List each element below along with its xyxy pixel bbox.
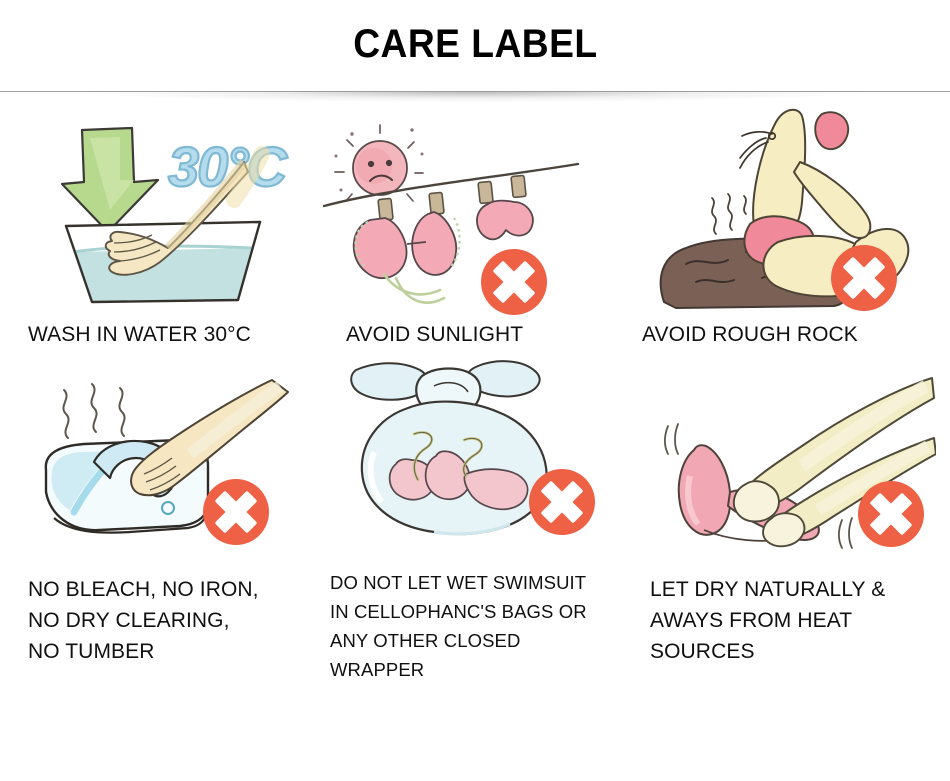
prohibition-icon xyxy=(831,245,897,311)
avoid-rough-rock-svg xyxy=(650,106,940,316)
heat-waves-icon xyxy=(63,384,124,438)
prohibition-icon xyxy=(203,479,269,545)
panel-wash-in-water: 30°C xyxy=(0,98,316,350)
plastic-bag-icon xyxy=(351,361,546,534)
panel-avoid-rough-rock: AVOID ROUGH ROCK xyxy=(632,98,948,350)
panel-avoid-sunlight: AVOID SUNLIGHT xyxy=(316,98,632,350)
illustration-avoid-sunlight xyxy=(316,98,632,313)
wash-in-water-svg: 30°C xyxy=(48,114,298,314)
no-wet-swimsuit-svg xyxy=(338,356,613,556)
caption-let-dry-naturally: LET DRY NATURALLY & AWAYS FROM HEAT SOUR… xyxy=(632,568,948,667)
illustration-avoid-rough-rock xyxy=(632,98,948,313)
prohibition-icon xyxy=(858,481,924,547)
panel-no-wet-swimsuit-in-bag: DO NOT LET WET SWIMSUIT IN CELLOPHANC'S … xyxy=(316,350,632,684)
water-basin-icon xyxy=(66,222,260,302)
page-header: CARE LABEL xyxy=(0,0,950,92)
illustration-wash-in-water: 30°C xyxy=(0,98,316,313)
illustration-let-dry-naturally xyxy=(632,350,948,568)
no-iron-svg xyxy=(40,362,290,562)
caption-wash-in-water: WASH IN WATER 30°C xyxy=(0,313,316,350)
hand-icon xyxy=(131,380,288,495)
illustration-no-iron xyxy=(0,350,316,568)
friction-marks-icon xyxy=(712,194,746,234)
care-row-top: 30°C xyxy=(0,98,950,350)
prohibition-icon xyxy=(481,249,547,315)
care-instruction-grid: 30°C xyxy=(0,92,950,684)
avoid-sunlight-svg xyxy=(322,116,622,321)
panel-no-bleach-no-iron: NO BLEACH, NO IRON, NO DRY CLEARING, NO … xyxy=(0,350,316,684)
panel-let-dry-naturally: LET DRY NATURALLY & AWAYS FROM HEAT SOUR… xyxy=(632,350,948,684)
caption-no-wet-swimsuit-in-bag: DO NOT LET WET SWIMSUIT IN CELLOPHANC'S … xyxy=(316,568,632,684)
caption-avoid-rough-rock: AVOID ROUGH ROCK xyxy=(632,313,948,350)
page-title: CARE LABEL xyxy=(353,24,597,64)
illustration-no-wet-swimsuit-in-bag xyxy=(316,350,632,568)
down-arrow-icon xyxy=(62,128,158,232)
caption-no-bleach-no-iron: NO BLEACH, NO IRON, NO DRY CLEARING, NO … xyxy=(0,568,316,667)
care-row-bottom: NO BLEACH, NO IRON, NO DRY CLEARING, NO … xyxy=(0,350,950,684)
let-dry-naturally-svg xyxy=(646,364,936,564)
prohibition-icon xyxy=(529,469,595,535)
